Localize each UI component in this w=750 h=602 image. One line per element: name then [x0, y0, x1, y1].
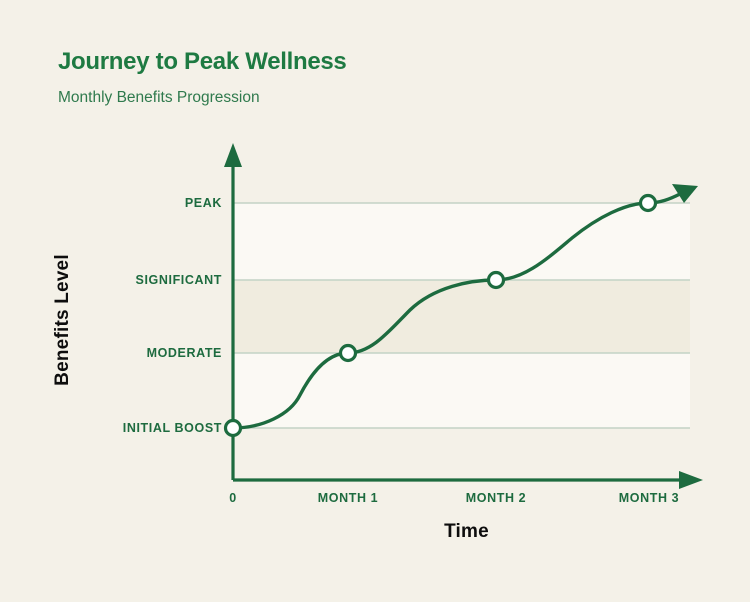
y-tick-label-peak: PEAK	[84, 196, 222, 210]
data-point-marker[interactable]	[341, 346, 356, 361]
band-significant-moderate	[233, 280, 690, 353]
y-tick-label-initial-boost: INITIAL BOOST	[84, 421, 222, 435]
y-axis-arrow-icon	[224, 143, 242, 167]
chart-plot-area	[0, 0, 750, 602]
y-tick-label-moderate: MODERATE	[84, 346, 222, 360]
data-point-marker[interactable]	[226, 421, 241, 436]
x-tick-label-month-3: MONTH 3	[589, 491, 709, 505]
y-tick-label-significant: SIGNIFICANT	[84, 273, 222, 287]
data-point-marker[interactable]	[489, 273, 504, 288]
x-tick-label-month-1: MONTH 1	[288, 491, 408, 505]
y-axis-title: Benefits Level	[52, 254, 74, 386]
data-point-marker[interactable]	[641, 196, 656, 211]
y-axis-title-wrap: Benefits Level	[38, 210, 88, 430]
chart-card: Journey to Peak Wellness Monthly Benefit…	[0, 0, 750, 602]
x-axis-title: Time	[233, 521, 700, 543]
x-tick-label-month-2: MONTH 2	[436, 491, 556, 505]
data-line-arrow-icon	[672, 184, 698, 203]
x-axis-arrow-icon	[679, 471, 703, 489]
band-peak-significant	[233, 203, 690, 280]
x-tick-label-0: 0	[203, 491, 263, 505]
